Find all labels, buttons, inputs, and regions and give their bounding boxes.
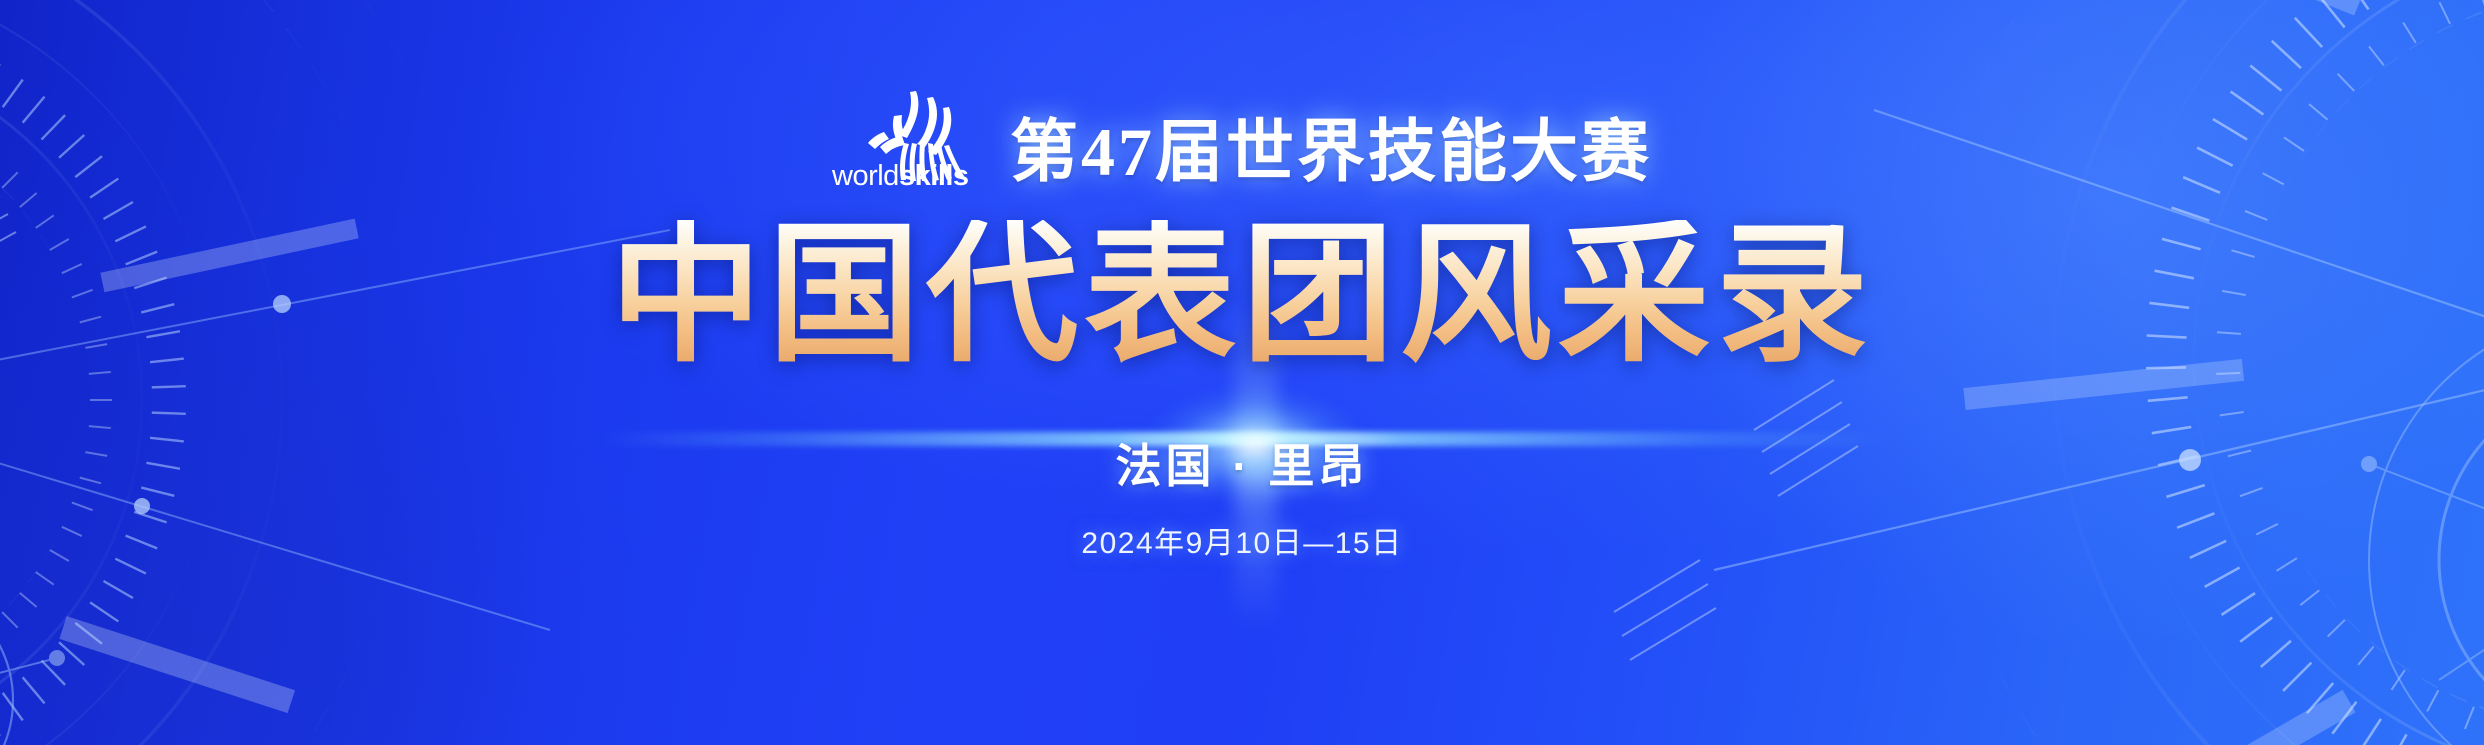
worldskills-banner: world skills 第47届世界技能大赛 中国代表团风采录 法国 · 里昂… (0, 0, 2484, 745)
location-label: 法国 · 里昂 (1116, 430, 1369, 496)
worldskills-word-bold: skills (899, 160, 969, 188)
worldskills-word-light: world (832, 160, 899, 188)
banner-content: world skills 第47届世界技能大赛 中国代表团风采录 法国 · 里昂… (0, 0, 2484, 745)
event-name-title: 第47届世界技能大赛 (1010, 118, 1652, 188)
date-range-label: 2024年9月10日—15日 (1081, 518, 1402, 562)
headline-title: 中国代表团风采录 (610, 220, 1874, 372)
worldskills-hand-mark-icon: world skills (832, 88, 984, 188)
event-header-row: world skills 第47届世界技能大赛 (832, 88, 1652, 188)
